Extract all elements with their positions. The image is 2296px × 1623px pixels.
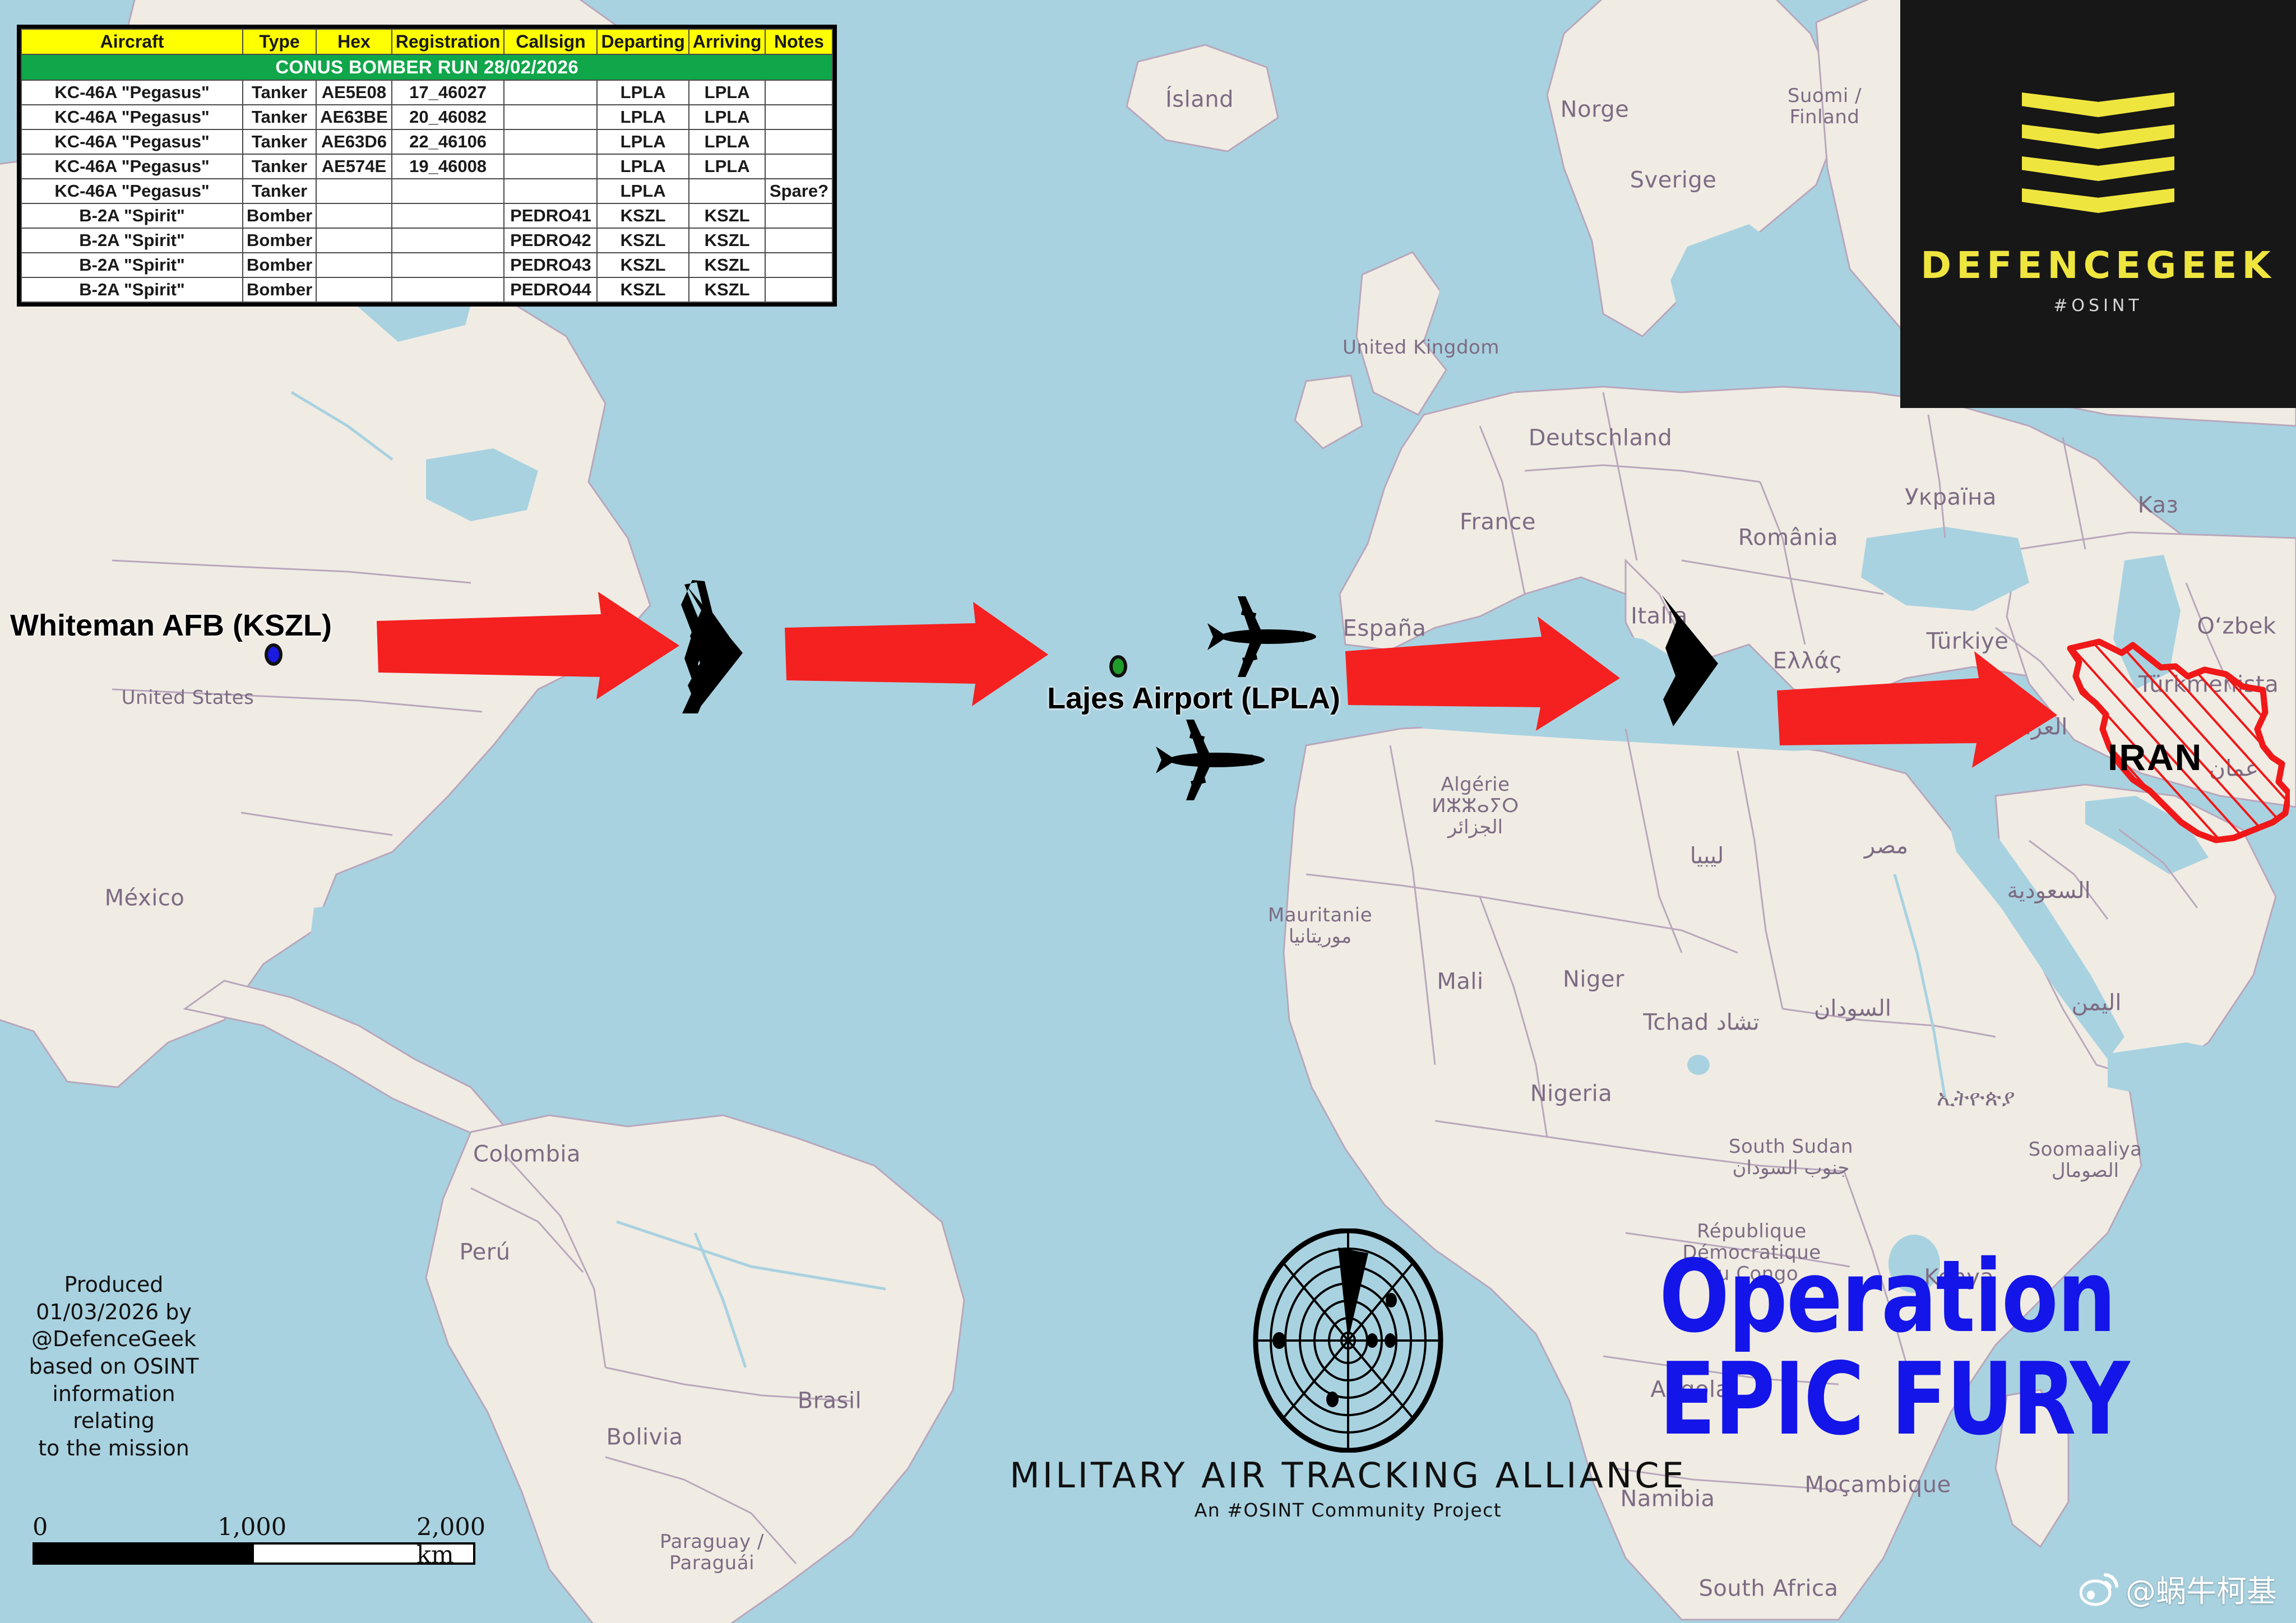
- scale-tick: 2,000 km: [416, 1513, 498, 1569]
- map-label: Mali: [1437, 970, 1483, 995]
- weibo-logo-icon: [2080, 1571, 2119, 1606]
- table-cell-aircraft: KC-46A "Pegasus": [21, 129, 243, 154]
- weibo-handle: @蜗牛柯基: [2126, 1566, 2277, 1611]
- table-cell-notes: [765, 277, 832, 302]
- table-row: KC-46A "Pegasus"TankerAE5E0817_46027LPLA…: [21, 80, 832, 105]
- table-cell-departing: KSZL: [597, 253, 688, 277]
- table-cell-hex: [316, 228, 392, 253]
- table-cell-aircraft: B-2A "Spirit": [21, 228, 243, 253]
- table-cell-notes: [765, 105, 832, 129]
- map-label: Deutschland: [1529, 426, 1673, 451]
- table-cell-aircraft: KC-46A "Pegasus": [21, 80, 243, 105]
- table-cell-hex: AE574E: [316, 154, 392, 179]
- site-marker-label: Lajes Airport (LPLA): [1047, 681, 1340, 716]
- brand-name: DEFENCEGEEK: [1920, 244, 2275, 287]
- map-label: Ísland: [1165, 87, 1234, 113]
- target-label-iran: IRAN: [2108, 736, 2202, 778]
- table-row: B-2A "Spirit"BomberPEDRO44KSZLKSZL: [21, 277, 832, 302]
- table-cell-registration: 20_46082: [392, 105, 504, 129]
- table-banner-row: CONUS BOMBER RUN 28/02/2026: [21, 54, 832, 80]
- map-label: Tchad تشاد: [1643, 1010, 1759, 1036]
- chevron-bar: [2022, 92, 2174, 117]
- route-arrow-2: [785, 599, 1048, 711]
- table-cell-callsign: PEDRO43: [504, 253, 597, 277]
- map-label: Colombia: [473, 1142, 581, 1167]
- map-scale-bar: 01,0002,000 km: [33, 1513, 498, 1565]
- credit-line: Produced: [27, 1271, 201, 1299]
- bomber-icon-b2a-mediterranean: [1651, 590, 1724, 730]
- table-cell-aircraft: KC-46A "Pegasus": [21, 105, 243, 129]
- table-banner-cell: CONUS BOMBER RUN 28/02/2026: [21, 54, 832, 80]
- table-cell-arriving: [689, 179, 766, 203]
- table-cell-arriving: LPLA: [689, 80, 766, 105]
- table-row: KC-46A "Pegasus"TankerLPLASpare?: [21, 179, 832, 203]
- table-cell-hex: [316, 253, 392, 277]
- table-cell-notes: [765, 80, 832, 105]
- map-label: Algérie ⵍⵣⵣⴰⵢⵔ الجزائر: [1432, 774, 1519, 838]
- operation-title-block: Operation EPIC FURY: [1659, 1250, 2293, 1446]
- route-arrow-3: [1345, 616, 1620, 740]
- table-cell-type: Bomber: [243, 203, 316, 228]
- mata-title: MILITARY AIR TRACKING ALLIANCE: [1010, 1455, 1686, 1496]
- operation-title-line2: EPIC FURY: [1659, 1352, 2242, 1446]
- table-cell-registration: [392, 228, 504, 253]
- map-label: South Sudan جنوب السودان: [1729, 1136, 1853, 1179]
- table-cell-aircraft: B-2A "Spirit": [21, 203, 243, 228]
- map-label: Niger: [1563, 967, 1624, 993]
- table-header-cell: Registration: [392, 29, 504, 54]
- table-cell-arriving: KSZL: [689, 277, 766, 302]
- table-cell-callsign: PEDRO41: [504, 203, 597, 228]
- table-cell-departing: KSZL: [597, 203, 688, 228]
- brand-tagline: #OSINT: [2053, 296, 2142, 316]
- table-cell-arriving: KSZL: [689, 253, 766, 277]
- table-cell-type: Tanker: [243, 80, 316, 105]
- weibo-watermark: @蜗牛柯基: [2080, 1566, 2277, 1611]
- table-cell-departing: LPLA: [597, 179, 688, 203]
- table-cell-registration: 22_46106: [392, 129, 504, 154]
- map-label: France: [1460, 510, 1536, 535]
- table-cell-type: Bomber: [243, 253, 316, 277]
- table-cell-hex: [316, 203, 392, 228]
- map-label: Norge: [1561, 98, 1630, 123]
- map-label: ليبيا: [1690, 844, 1724, 869]
- credit-line: based on OSINT: [27, 1353, 201, 1380]
- table-row: B-2A "Spirit"BomberPEDRO42KSZLKSZL: [21, 228, 832, 253]
- table-cell-notes: [765, 154, 832, 179]
- table-cell-callsign: [504, 179, 597, 203]
- table-cell-departing: LPLA: [597, 105, 688, 129]
- map-label: United Kingdom: [1343, 337, 1499, 358]
- table-cell-registration: 17_46027: [392, 80, 504, 105]
- map-label: Paraguay / Paraguái: [660, 1531, 764, 1574]
- table-cell-notes: [765, 228, 832, 253]
- table-cell-registration: [392, 253, 504, 277]
- map-label: Nigeria: [1530, 1082, 1613, 1107]
- table-header-cell: Arriving: [689, 29, 766, 54]
- production-credit: Produced01/03/2026 by@DefenceGeekbased o…: [27, 1271, 201, 1462]
- map-label: Moçambique: [1804, 1473, 1951, 1498]
- table-cell-hex: [316, 179, 392, 203]
- map-label: ኢትዮጵያ: [1937, 1086, 2015, 1111]
- map-label: Soomaaliya الصومال: [2029, 1139, 2142, 1181]
- radar-scope-icon: [1253, 1228, 1443, 1453]
- map-label: Perú: [459, 1240, 510, 1265]
- scale-tick: 0: [33, 1513, 48, 1541]
- scale-tick-labels: 01,0002,000 km: [33, 1513, 498, 1542]
- table-cell-hex: AE63BE: [316, 105, 392, 129]
- table-cell-registration: [392, 179, 504, 203]
- table-cell-callsign: [504, 129, 597, 154]
- table-cell-arriving: LPLA: [689, 129, 766, 154]
- table-cell-callsign: [504, 154, 597, 179]
- table-cell-departing: LPLA: [597, 80, 688, 105]
- table-header-cell: Type: [243, 29, 316, 54]
- table-cell-departing: KSZL: [597, 277, 688, 302]
- site-marker-dot: [265, 643, 283, 666]
- table-cell-type: Bomber: [243, 228, 316, 253]
- table-cell-notes: [765, 253, 832, 277]
- map-label: Kaз: [2138, 493, 2179, 518]
- site-marker-dot: [1109, 655, 1127, 678]
- table-cell-callsign: PEDRO42: [504, 228, 597, 253]
- table-cell-type: Bomber: [243, 277, 316, 302]
- map-label: România: [1738, 526, 1838, 551]
- table-cell-callsign: [504, 80, 597, 105]
- chevron-bar: [2022, 124, 2174, 149]
- map-label: United States: [122, 687, 254, 708]
- bomber-icon-b2a-atlantic: [675, 580, 748, 715]
- table-cell-hex: AE5E08: [316, 80, 392, 105]
- scale-tick: 1,000: [217, 1513, 286, 1541]
- table-cell-hex: AE63D6: [316, 129, 392, 154]
- table-cell-notes: [765, 129, 832, 154]
- chevron-bar: [2022, 188, 2174, 213]
- map-label: اليمن: [2072, 991, 2122, 1016]
- scale-bar-graphic: [33, 1542, 475, 1565]
- credit-line: information relating: [27, 1380, 201, 1435]
- table-cell-departing: LPLA: [597, 154, 688, 179]
- map-label: Brasil: [798, 1389, 862, 1414]
- table-cell-aircraft: B-2A "Spirit": [21, 277, 243, 302]
- map-label: Bolivia: [607, 1425, 683, 1450]
- table-cell-type: Tanker: [243, 129, 316, 154]
- table-header-cell: Departing: [597, 29, 688, 54]
- table-cell-departing: LPLA: [597, 129, 688, 154]
- table-cell-callsign: PEDRO44: [504, 277, 597, 302]
- tanker-icon-kc46a-north: [1205, 594, 1323, 678]
- table-cell-arriving: LPLA: [689, 154, 766, 179]
- table-header-row: AircraftTypeHexRegistrationCallsignDepar…: [21, 29, 832, 54]
- table-cell-arriving: KSZL: [689, 228, 766, 253]
- credit-line: @DefenceGeek: [27, 1325, 201, 1353]
- map-label: México: [105, 886, 185, 911]
- site-marker-label: Whiteman AFB (KSZL): [10, 608, 332, 643]
- table-cell-arriving: LPLA: [689, 105, 766, 129]
- table-row: KC-46A "Pegasus"TankerAE63BE20_46082LPLA…: [21, 105, 832, 129]
- table-row: B-2A "Spirit"BomberPEDRO41KSZLKSZL: [21, 203, 832, 228]
- map-label: مصر: [1864, 834, 1908, 859]
- roster-grid: AircraftTypeHexRegistrationCallsignDepar…: [21, 29, 833, 303]
- mata-logo-block: MILITARY AIR TRACKING ALLIANCE An #OSINT…: [1059, 1228, 1637, 1521]
- mata-subtitle: An #OSINT Community Project: [1195, 1499, 1502, 1521]
- table-cell-type: Tanker: [243, 179, 316, 203]
- table-cell-registration: 19_46008: [392, 154, 504, 179]
- table-cell-aircraft: B-2A "Spirit": [21, 253, 243, 277]
- table-row: B-2A "Spirit"BomberPEDRO43KSZLKSZL: [21, 253, 832, 277]
- operation-title-line1: Operation: [1659, 1250, 2242, 1343]
- map-label: South Africa: [1698, 1576, 1838, 1602]
- table-cell-departing: KSZL: [597, 228, 688, 253]
- table-header-cell: Callsign: [504, 29, 597, 54]
- table-row: KC-46A "Pegasus"TankerAE63D622_46106LPLA…: [21, 129, 832, 154]
- credit-line: 01/03/2026 by: [27, 1299, 201, 1326]
- table-cell-aircraft: KC-46A "Pegasus": [21, 154, 243, 179]
- table-header-cell: Hex: [316, 29, 392, 54]
- table-cell-notes: [765, 203, 832, 228]
- route-arrow-4: [1777, 639, 2057, 773]
- table-cell-hex: [316, 277, 392, 302]
- table-cell-registration: [392, 203, 504, 228]
- table-cell-type: Tanker: [243, 154, 316, 179]
- map-label: Україна: [1905, 485, 1997, 511]
- table-cell-arriving: KSZL: [689, 203, 766, 228]
- table-cell-callsign: [504, 105, 597, 129]
- table-cell-registration: [392, 277, 504, 302]
- chevron-bar: [2022, 156, 2174, 181]
- table-cell-type: Tanker: [243, 105, 316, 129]
- tanker-icon-kc46a-south: [1154, 717, 1271, 801]
- chevron-rank-icon: [2022, 92, 2174, 220]
- table-header-cell: Notes: [765, 29, 832, 54]
- map-label: Suomi / Finland: [1788, 85, 1862, 128]
- table-cell-aircraft: KC-46A "Pegasus": [21, 179, 243, 203]
- map-label: السودان: [1814, 996, 1891, 1022]
- map-label: Sverige: [1630, 168, 1717, 193]
- mission-roster-table: AircraftTypeHexRegistrationCallsignDepar…: [17, 25, 837, 307]
- table-cell-notes: Spare?: [765, 179, 832, 203]
- credit-line: to the mission: [27, 1435, 201, 1462]
- table-body: CONUS BOMBER RUN 28/02/2026KC-46A "Pegas…: [21, 54, 832, 302]
- table-header-cell: Aircraft: [21, 29, 243, 54]
- defencegeek-brand-panel: DEFENCEGEEK #OSINT: [1900, 0, 2296, 408]
- route-arrow-1: [377, 587, 679, 705]
- map-label: Mauritanie موريتانيا: [1268, 905, 1372, 947]
- table-row: KC-46A "Pegasus"TankerAE574E19_46008LPLA…: [21, 154, 832, 179]
- infographic-canvas: ÍslandNorgeSuomi / FinlandSverigeUnited …: [0, 0, 2296, 1623]
